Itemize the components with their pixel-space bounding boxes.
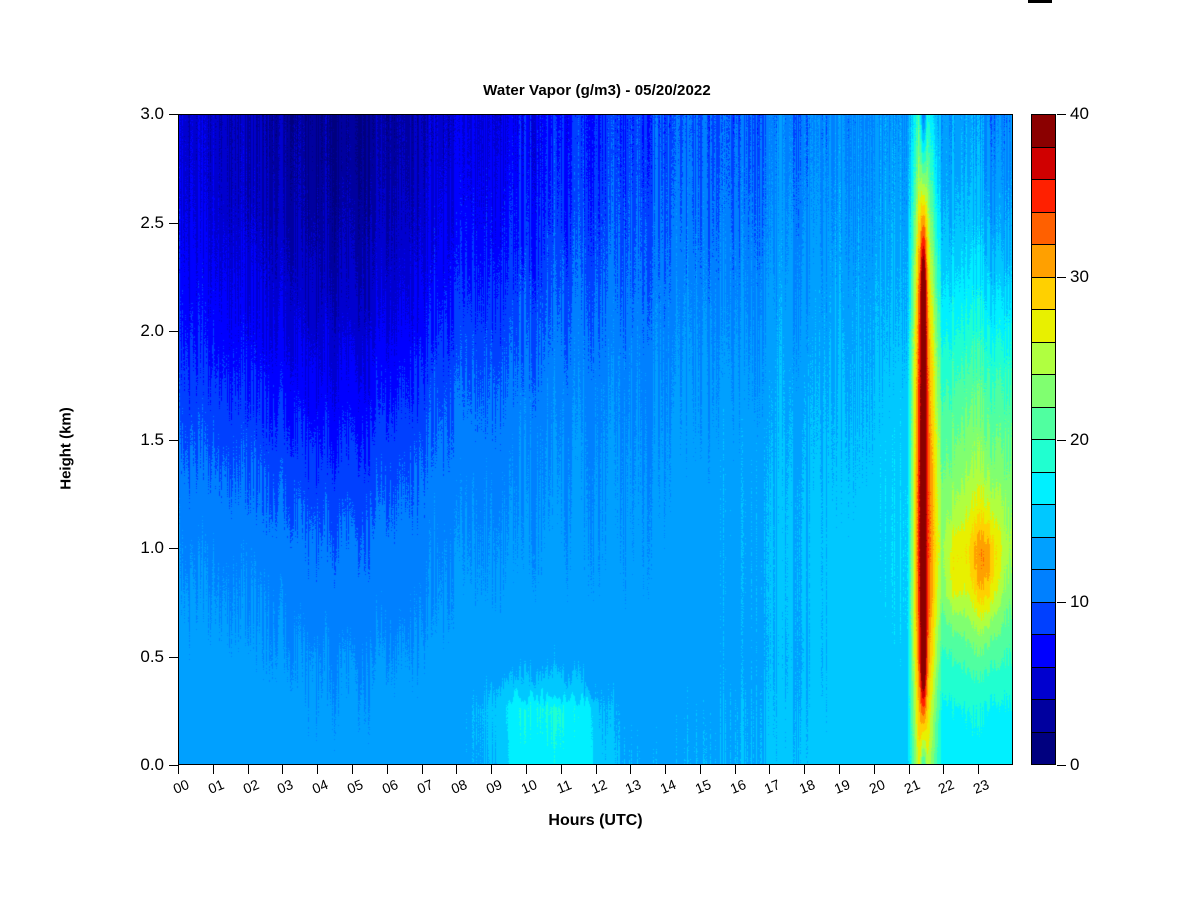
colorbar-band: [1032, 732, 1055, 765]
x-tick: [456, 765, 457, 774]
water-vapor-time-height-figure: Water Vapor (g/m3) - 05/20/2022 0.00.51.…: [0, 0, 1200, 900]
colorbar-band: [1032, 504, 1055, 537]
x-tick: [943, 765, 944, 774]
x-tick: [561, 765, 562, 774]
x-tick: [422, 765, 423, 774]
plot-area: [178, 114, 1013, 765]
colorbar-tick: [1057, 765, 1066, 766]
colorbar-band: [1032, 439, 1055, 472]
colorbar-band: [1032, 147, 1055, 180]
colorbar-band: [1032, 244, 1055, 277]
colorbar-band: [1032, 569, 1055, 602]
colorbar-band: [1032, 212, 1055, 245]
colorbar-band: [1032, 537, 1055, 570]
x-tick-label: 23: [960, 772, 1003, 802]
colorbar-band: [1032, 277, 1055, 310]
colorbar-label: 10: [1070, 592, 1089, 612]
x-tick: [735, 765, 736, 774]
colorbar-band: [1032, 472, 1055, 505]
x-tick: [352, 765, 353, 774]
y-tick-label: 0.5: [104, 647, 164, 667]
y-tick-label: 1.0: [104, 538, 164, 558]
y-tick-label: 2.0: [104, 321, 164, 341]
x-tick: [491, 765, 492, 774]
colorbar-band: [1032, 407, 1055, 440]
y-tick-label: 0.0: [104, 755, 164, 775]
y-tick-label: 1.5: [104, 430, 164, 450]
colorbar-band: [1032, 115, 1055, 147]
x-tick: [909, 765, 910, 774]
x-tick: [978, 765, 979, 774]
x-tick: [839, 765, 840, 774]
colorbar-tick: [1057, 277, 1066, 278]
colorbar-tick: [1057, 602, 1066, 603]
x-tick: [700, 765, 701, 774]
colorbar-band: [1032, 634, 1055, 667]
colorbar-tick: [1057, 114, 1066, 115]
x-tick: [178, 765, 179, 774]
colorbar-tick: [1057, 440, 1066, 441]
x-tick: [769, 765, 770, 774]
x-tick: [874, 765, 875, 774]
x-tick: [804, 765, 805, 774]
colorbar-label: 30: [1070, 267, 1089, 287]
y-axis-title: Height (km): [58, 369, 75, 529]
x-tick: [665, 765, 666, 774]
colorbar-label: 0: [1070, 755, 1079, 775]
colorbar-band: [1032, 602, 1055, 635]
x-tick: [526, 765, 527, 774]
y-tick: [169, 331, 178, 332]
colorbar-label: 40: [1070, 104, 1089, 124]
y-tick: [169, 223, 178, 224]
chart-title-text: Water Vapor (g/m3) - 05/20/2022: [483, 82, 711, 99]
x-tick: [596, 765, 597, 774]
x-tick: [630, 765, 631, 774]
x-tick: [213, 765, 214, 774]
colorbar-band: [1032, 342, 1055, 375]
colorbar: [1031, 114, 1056, 765]
chart-title: Water Vapor (g/m3) - 05/20/2022: [0, 82, 1200, 99]
x-tick: [317, 765, 318, 774]
top-edge-artifact: [1028, 0, 1052, 3]
y-tick: [169, 765, 178, 766]
x-tick: [282, 765, 283, 774]
x-tick: [248, 765, 249, 774]
heatmap-canvas: [179, 115, 1012, 764]
colorbar-band: [1032, 179, 1055, 212]
colorbar-label: 20: [1070, 430, 1089, 450]
colorbar-band: [1032, 374, 1055, 407]
y-tick: [169, 440, 178, 441]
y-tick-label: 2.5: [104, 213, 164, 233]
x-tick: [387, 765, 388, 774]
y-tick: [169, 114, 178, 115]
y-tick-label: 3.0: [104, 104, 164, 124]
colorbar-band: [1032, 667, 1055, 700]
colorbar-band: [1032, 699, 1055, 732]
x-axis-title: Hours (UTC): [178, 812, 1013, 830]
y-tick: [169, 657, 178, 658]
colorbar-band: [1032, 309, 1055, 342]
y-tick: [169, 548, 178, 549]
